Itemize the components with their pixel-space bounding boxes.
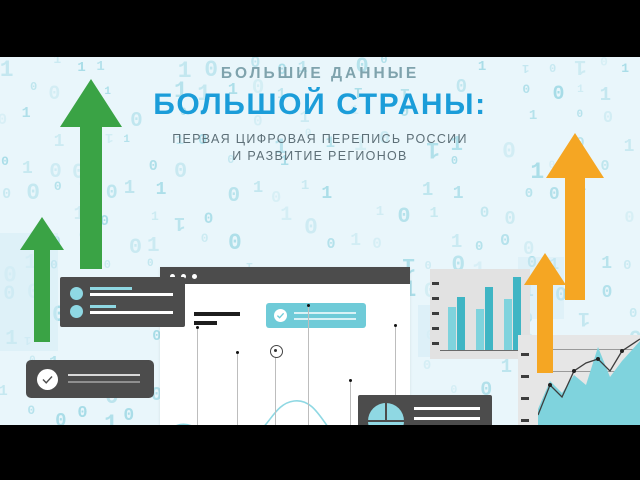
binary-digit: 1: [280, 206, 292, 226]
binary-digit: 1: [253, 180, 263, 197]
pin-line: [308, 307, 309, 425]
bar: [476, 309, 484, 350]
binary-digit: 1: [321, 185, 332, 203]
pin-dot: [349, 379, 352, 382]
heading-line: [194, 321, 217, 325]
list-bullet-icon: [70, 305, 83, 318]
banner-line: [294, 312, 356, 314]
headline-subtitle: ПЕРВАЯ ЦИФРОВАЯ ПЕРЕПИСЬ РОССИИ И РАЗВИТ…: [0, 131, 640, 165]
pie-card: [358, 395, 492, 425]
binary-digit: 1: [376, 205, 384, 219]
pin-dot: [394, 324, 397, 327]
pie-card-line: [414, 407, 480, 410]
binary-digit: 1: [578, 307, 590, 327]
binary-digit: 0: [129, 237, 142, 259]
binary-digit: 0: [2, 187, 11, 202]
subtitle-line-1: ПЕРВАЯ ЦИФРОВАЯ ПЕРЕПИСЬ РОССИИ: [0, 131, 640, 148]
binary-digit: 1: [0, 384, 8, 399]
list-line: [90, 293, 173, 296]
pin-marker-ring[interactable]: [270, 345, 283, 358]
bar-y-tick: [432, 342, 439, 345]
binary-digit: 0: [201, 232, 209, 245]
binary-digit: 1: [151, 210, 159, 223]
binary-digit: 1: [156, 181, 167, 199]
pie-divider: [385, 403, 387, 421]
binary-digit: 0: [397, 206, 410, 228]
headline-kicker: БОЛЬШИЕ ДАННЫЕ: [0, 65, 640, 83]
heading-line: [194, 312, 240, 316]
binary-digit: 1: [501, 358, 512, 377]
area-y-tick: [521, 397, 529, 400]
bar: [448, 307, 456, 350]
binary-digit: 0: [204, 211, 214, 227]
binary-digit: 1: [429, 206, 438, 221]
binary-digit: 0: [77, 405, 87, 422]
list-line-accent: [90, 287, 132, 290]
pin-line: [275, 355, 276, 425]
binary-digit: 0: [26, 182, 40, 205]
binary-digit: 0: [423, 359, 431, 373]
poster-canvas: 1111100010011010100111101110001101000011…: [0, 57, 640, 425]
list-line: [90, 311, 173, 314]
notification-banner[interactable]: [266, 303, 366, 328]
binary-digit: 0: [525, 187, 533, 201]
binary-digit: 0: [27, 404, 35, 417]
pin-dot: [196, 326, 199, 329]
binary-digit: 0: [475, 237, 483, 251]
headline-title: БОЛЬШОЙ СТРАНЫ:: [0, 88, 640, 122]
pin-line: [197, 329, 198, 425]
pin-dot: [307, 304, 310, 307]
check-circle-icon: [274, 309, 287, 322]
binary-digit: 0: [624, 210, 634, 227]
binary-digit: 0: [500, 233, 510, 250]
check-card-line: [68, 374, 140, 376]
binary-digit: 1: [147, 236, 160, 257]
check-card-line: [68, 381, 140, 383]
browser-titlebar: [160, 267, 410, 284]
binary-digit: 0: [326, 237, 335, 252]
binary-digit: 0: [228, 232, 242, 255]
pie-divider: [368, 420, 404, 422]
pin-line: [237, 354, 238, 425]
letterbox-bottom: [0, 425, 640, 480]
pin-line: [350, 382, 351, 425]
poster-headline: БОЛЬШИЕ ДАННЫЕ БОЛЬШОЙ СТРАНЫ: ПЕРВАЯ ЦИ…: [0, 65, 640, 165]
area-y-tick: [521, 375, 529, 378]
bar-x-axis: [440, 350, 526, 352]
pin-dot: [236, 351, 239, 354]
bar-y-tick: [432, 327, 439, 330]
binary-digit: 1: [451, 233, 462, 252]
list-line-accent: [90, 305, 116, 308]
binary-digit: 0: [504, 210, 515, 229]
bar-chart-panel: [430, 269, 530, 359]
binary-digit: 0: [304, 212, 318, 235]
bar-y-tick: [432, 297, 439, 300]
binary-digit: 1: [301, 179, 309, 193]
check-card: [26, 360, 154, 398]
binary-digit: 0: [623, 259, 631, 273]
check-icon: [274, 309, 287, 322]
binary-digit: 0: [55, 412, 66, 425]
binary-digit: 1: [422, 181, 433, 200]
list-bullet-icon: [70, 287, 83, 300]
binary-digit: 0: [147, 259, 154, 270]
binary-digit: 0: [480, 205, 490, 221]
binary-digit: 1: [350, 232, 361, 250]
check-icon: [37, 369, 58, 390]
green-arrow-small-icon: [20, 217, 64, 342]
binary-digit: 1: [453, 185, 464, 203]
check-circle-icon: [37, 369, 58, 390]
binary-digit: 0: [123, 407, 134, 425]
bar: [504, 299, 512, 350]
bar-y-tick: [432, 312, 439, 315]
binary-digit: 0: [227, 186, 240, 207]
poster-stage: 1111100010011010100111101110001101000011…: [0, 0, 640, 480]
subtitle-line-2: И РАЗВИТИЕ РЕГИОНОВ: [0, 148, 640, 165]
browser-dot-maximize-icon[interactable]: [192, 274, 197, 279]
binary-digit: 1: [124, 179, 135, 198]
list-card: [60, 277, 185, 327]
binary-digit: 1: [174, 213, 185, 232]
binary-digit: 0: [372, 236, 382, 252]
area-y-tick: [521, 419, 529, 422]
pie-card-line: [414, 417, 480, 420]
binary-digit: 1: [104, 413, 118, 425]
letterbox-top: [0, 0, 640, 57]
pie-chart-icon: [368, 403, 404, 425]
binary-digit: 0: [629, 307, 637, 321]
bar-y-tick: [432, 282, 439, 285]
binary-digit: 0: [271, 186, 281, 203]
bar: [485, 287, 493, 350]
bar: [457, 297, 465, 350]
banner-line: [294, 318, 356, 320]
